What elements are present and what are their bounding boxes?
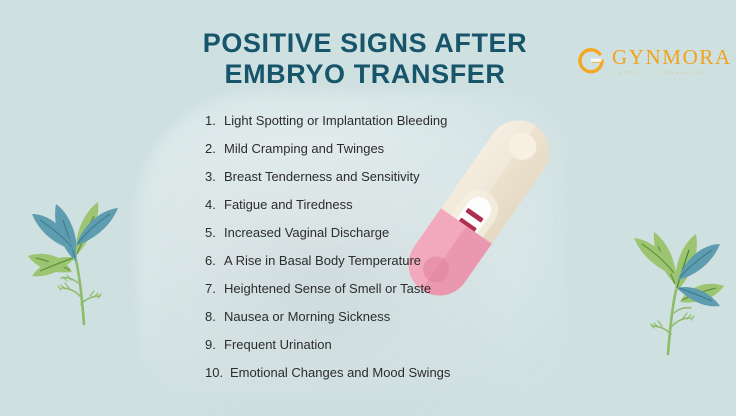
list-item: 4. Fatigue and Tiredness [205, 197, 535, 225]
list-item-label: Light Spotting or Implantation Bleeding [224, 113, 447, 128]
page-title-line-1: Positive Signs After [203, 28, 528, 58]
list-item-number: 4. [205, 197, 224, 212]
list-item-label: Mild Cramping and Twinges [224, 141, 384, 156]
list-item-label: Increased Vaginal Discharge [224, 225, 389, 240]
brand-wordmark: GYNMORA [612, 47, 732, 68]
list-item-label: Breast Tenderness and Sensitivity [224, 169, 420, 184]
infographic-canvas: Positive Signs After Embryo Transfer GYN… [0, 0, 736, 416]
list-item-label: Heightened Sense of Smell or Taste [224, 281, 431, 296]
list-item-number: 1. [205, 113, 224, 128]
list-item: 7. Heightened Sense of Smell or Taste [205, 281, 535, 309]
list-item-label: A Rise in Basal Body Temperature [224, 253, 421, 268]
list-item-label: Fatigue and Tiredness [224, 197, 353, 212]
list-item-number: 8. [205, 309, 224, 324]
list-item-number: 7. [205, 281, 224, 296]
list-item: 9. Frequent Urination [205, 337, 535, 365]
list-item: 5. Increased Vaginal Discharge [205, 225, 535, 253]
list-item-label: Nausea or Morning Sickness [224, 309, 390, 324]
list-item-number: 2. [205, 141, 224, 156]
list-item-number: 5. [205, 225, 224, 240]
botanical-sprig-right [598, 158, 736, 358]
list-item-number: 9. [205, 337, 224, 352]
botanical-sprig-left [14, 128, 154, 328]
list-item: 10. Emotional Changes and Mood Swings [205, 365, 535, 393]
positive-signs-list: 1. Light Spotting or Implantation Bleedi… [205, 113, 535, 393]
list-item: 1. Light Spotting or Implantation Bleedi… [205, 113, 535, 141]
list-item-label: Frequent Urination [224, 337, 332, 352]
list-item-number: 6. [205, 253, 224, 268]
list-item: 2. Mild Cramping and Twinges [205, 141, 535, 169]
list-item: 3. Breast Tenderness and Sensitivity [205, 169, 535, 197]
list-item: 8. Nausea or Morning Sickness [205, 309, 535, 337]
list-item-label: Emotional Changes and Mood Swings [230, 365, 450, 380]
brand-tagline: FERTILITY CONSULTANT [614, 71, 732, 76]
list-item: 6. A Rise in Basal Body Temperature [205, 253, 535, 281]
list-item-number: 10. [205, 365, 230, 380]
gynmora-g-icon [576, 46, 606, 76]
list-item-number: 3. [205, 169, 224, 184]
brand-logo[interactable]: GYNMORA FERTILITY CONSULTANT [576, 46, 732, 76]
